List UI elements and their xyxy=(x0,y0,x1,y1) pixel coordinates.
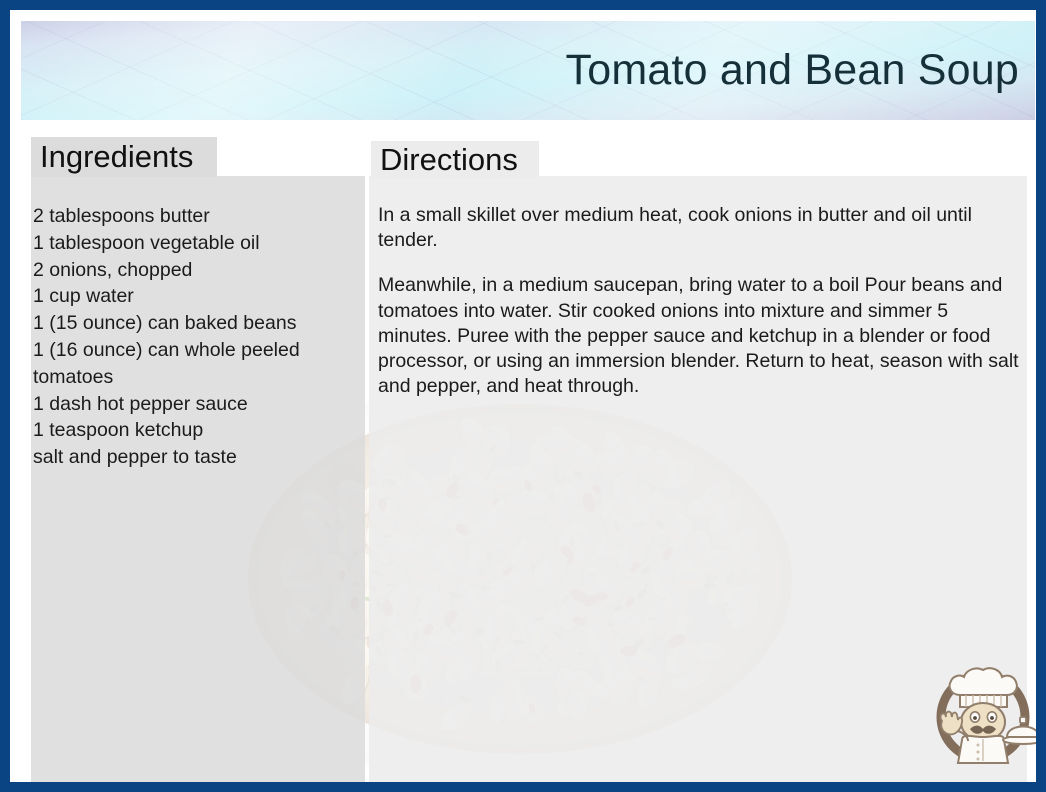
ingredient-item: 2 onions, chopped xyxy=(33,257,363,284)
tab-ingredients-label: Ingredients xyxy=(40,139,193,175)
recipe-slide: Tomato and Bean Soup Ingredients 2 table… xyxy=(0,0,1046,792)
directions-body: In a small skillet over medium heat, coo… xyxy=(378,203,1026,399)
ingredient-item: 1 cup water xyxy=(33,283,363,310)
page-title: Tomato and Bean Soup xyxy=(566,49,1019,92)
ingredient-item: 1 (15 ounce) can baked beans xyxy=(33,310,363,337)
ingredient-item: 1 (16 ounce) can whole peeled tomatoes xyxy=(33,337,363,391)
header-banner: Tomato and Bean Soup xyxy=(21,21,1035,120)
ingredient-item: 1 tablespoon vegetable oil xyxy=(33,230,363,257)
chef-mascot-logo-icon xyxy=(922,651,1044,773)
direction-paragraph: Meanwhile, in a medium saucepan, bring w… xyxy=(378,273,1026,399)
tab-directions[interactable]: Directions xyxy=(371,141,539,178)
ingredient-item: 1 dash hot pepper sauce xyxy=(33,391,363,418)
ingredient-item: salt and pepper to taste xyxy=(33,444,363,471)
ingredients-list: 2 tablespoons butter1 tablespoon vegetab… xyxy=(33,203,363,471)
ingredient-item: 1 teaspoon ketchup xyxy=(33,417,363,444)
tab-ingredients[interactable]: Ingredients xyxy=(31,137,217,177)
ingredient-item: 2 tablespoons butter xyxy=(33,203,363,230)
direction-paragraph: In a small skillet over medium heat, coo… xyxy=(378,203,1026,253)
tab-directions-label: Directions xyxy=(380,142,518,178)
